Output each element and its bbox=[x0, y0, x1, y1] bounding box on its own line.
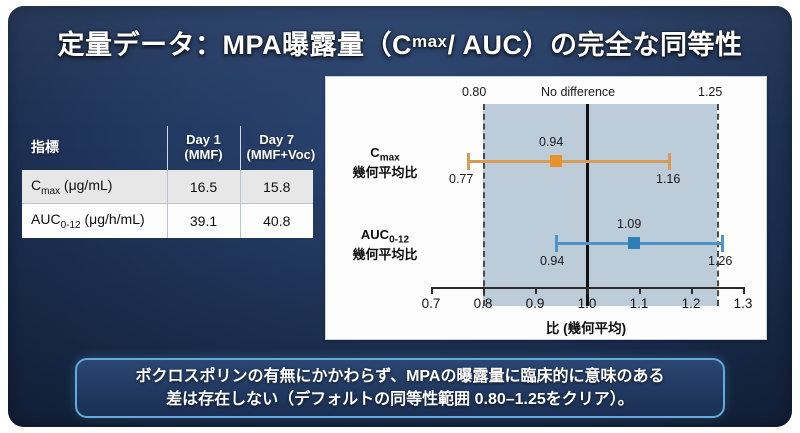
estimate-marker-auc bbox=[628, 237, 640, 249]
ci-low-label-auc: 0.94 bbox=[540, 254, 564, 268]
series-label-auc-main: AUC bbox=[361, 227, 389, 242]
x-tick bbox=[587, 287, 589, 294]
metrics-table: 指標 Day 1 (MMF) Day 7 (MMF+Voc) Cmax (μg/… bbox=[22, 126, 313, 238]
equivalence-band bbox=[483, 104, 717, 306]
table-header-row: 指標 Day 1 (MMF) Day 7 (MMF+Voc) bbox=[22, 126, 313, 170]
ci-cap-high-auc bbox=[721, 235, 724, 252]
x-tick bbox=[535, 287, 537, 294]
forest-plot-panel: 0.80 No difference 1.25 Cmax 幾何平均比 0.94 … bbox=[325, 76, 767, 340]
lower-bound-line bbox=[483, 104, 485, 306]
table-header-day1-line2: (MMF) bbox=[184, 147, 222, 162]
metric-unit: (μg/mL) bbox=[60, 177, 112, 193]
table-header-day7-line1: Day 7 bbox=[259, 132, 294, 147]
x-tick bbox=[639, 287, 641, 294]
series-label-auc-sub: 0-12 bbox=[389, 235, 409, 246]
series-label-cmax: Cmax 幾何平均比 bbox=[336, 145, 434, 181]
x-tick bbox=[483, 287, 485, 294]
x-tick-label: 1.3 bbox=[723, 296, 763, 311]
upper-bound-label: 1.25 bbox=[698, 85, 722, 99]
ci-high-label-auc: 1.26 bbox=[708, 254, 732, 268]
ci-cap-low-auc bbox=[555, 235, 558, 252]
no-difference-label: No difference bbox=[541, 85, 615, 99]
table-header-day1: Day 1 (MMF) bbox=[167, 126, 240, 170]
page-title-suffix: / AUC）の完全な同等性 bbox=[448, 23, 743, 62]
table-header-day7-line2: (MMF+Voc) bbox=[247, 147, 316, 162]
ci-high-label-cmax: 1.16 bbox=[656, 172, 680, 186]
table-header-day7: Day 7 (MMF+Voc) bbox=[240, 126, 313, 170]
series-label-cmax-sub: max bbox=[380, 153, 400, 164]
estimate-marker-cmax bbox=[550, 155, 562, 167]
x-tick-label: 0.8 bbox=[463, 296, 503, 311]
table-cell-day7: 15.8 bbox=[240, 170, 313, 204]
series-label-cmax-main: C bbox=[370, 145, 379, 160]
series-label-auc-line2: 幾何平均比 bbox=[352, 247, 417, 262]
metric-unit: (μg/h/mL) bbox=[81, 211, 145, 227]
page-title: 定量データ：MPA曝露量（Cmax / AUC）の完全な同等性 bbox=[40, 20, 760, 64]
estimate-label-auc: 1.09 bbox=[617, 217, 641, 231]
table-cell-metric: AUC0-12 (μg/h/mL) bbox=[22, 204, 167, 238]
x-tick-label: 0.9 bbox=[515, 296, 555, 311]
slide-root: 定量データ：MPA曝露量（Cmax / AUC）の完全な同等性 指標 Day 1… bbox=[0, 0, 800, 433]
x-tick-label: 1.2 bbox=[671, 296, 711, 311]
table-row: AUC0-12 (μg/h/mL) 39.1 40.8 bbox=[22, 204, 313, 238]
table-row: Cmax (μg/mL) 16.5 15.8 bbox=[22, 170, 313, 204]
table-cell-day7: 40.8 bbox=[240, 204, 313, 238]
metric-name: AUC bbox=[31, 211, 61, 227]
lower-bound-label: 0.80 bbox=[462, 85, 486, 99]
metric-name: C bbox=[31, 177, 41, 193]
x-axis-title: 比 (幾何平均) bbox=[481, 317, 691, 337]
ci-low-label-cmax: 0.77 bbox=[449, 172, 473, 186]
x-tick bbox=[431, 287, 433, 294]
no-difference-line bbox=[586, 104, 589, 306]
metric-subscript: max bbox=[41, 185, 60, 196]
page-title-subscript: max bbox=[412, 32, 448, 52]
table-cell-day1: 16.5 bbox=[167, 170, 240, 204]
upper-bound-line bbox=[717, 104, 719, 306]
table-cell-day1: 39.1 bbox=[167, 204, 240, 238]
conclusion-callout: ボクロスポリンの有無にかかわらず、MPAの曝露量に臨床的に意味のある 差は存在し… bbox=[75, 358, 725, 418]
series-label-auc: AUC0-12 幾何平均比 bbox=[332, 227, 438, 263]
estimate-label-cmax: 0.94 bbox=[539, 135, 563, 149]
ci-cap-low-cmax bbox=[467, 153, 470, 170]
table-header-day1-line1: Day 1 bbox=[186, 132, 221, 147]
page-title-prefix: 定量データ：MPA曝露量（C bbox=[57, 23, 412, 62]
x-tick bbox=[691, 287, 693, 294]
x-tick-label: 1.1 bbox=[619, 296, 659, 311]
series-label-cmax-line2: 幾何平均比 bbox=[352, 165, 417, 180]
table-cell-metric: Cmax (μg/mL) bbox=[22, 170, 167, 204]
ci-cap-high-cmax bbox=[668, 153, 671, 170]
ci-bar-cmax bbox=[467, 160, 671, 163]
x-tick bbox=[743, 287, 745, 294]
x-tick-label: 0.7 bbox=[411, 296, 451, 311]
x-tick-label: 1.0 bbox=[567, 296, 607, 311]
table-header-metric: 指標 bbox=[22, 126, 167, 170]
forest-plot: 0.80 No difference 1.25 Cmax 幾何平均比 0.94 … bbox=[326, 77, 766, 339]
conclusion-text: ボクロスポリンの有無にかかわらず、MPAの曝露量に臨床的に意味のある 差は存在し… bbox=[136, 365, 665, 411]
metric-subscript: 0-12 bbox=[61, 220, 81, 231]
